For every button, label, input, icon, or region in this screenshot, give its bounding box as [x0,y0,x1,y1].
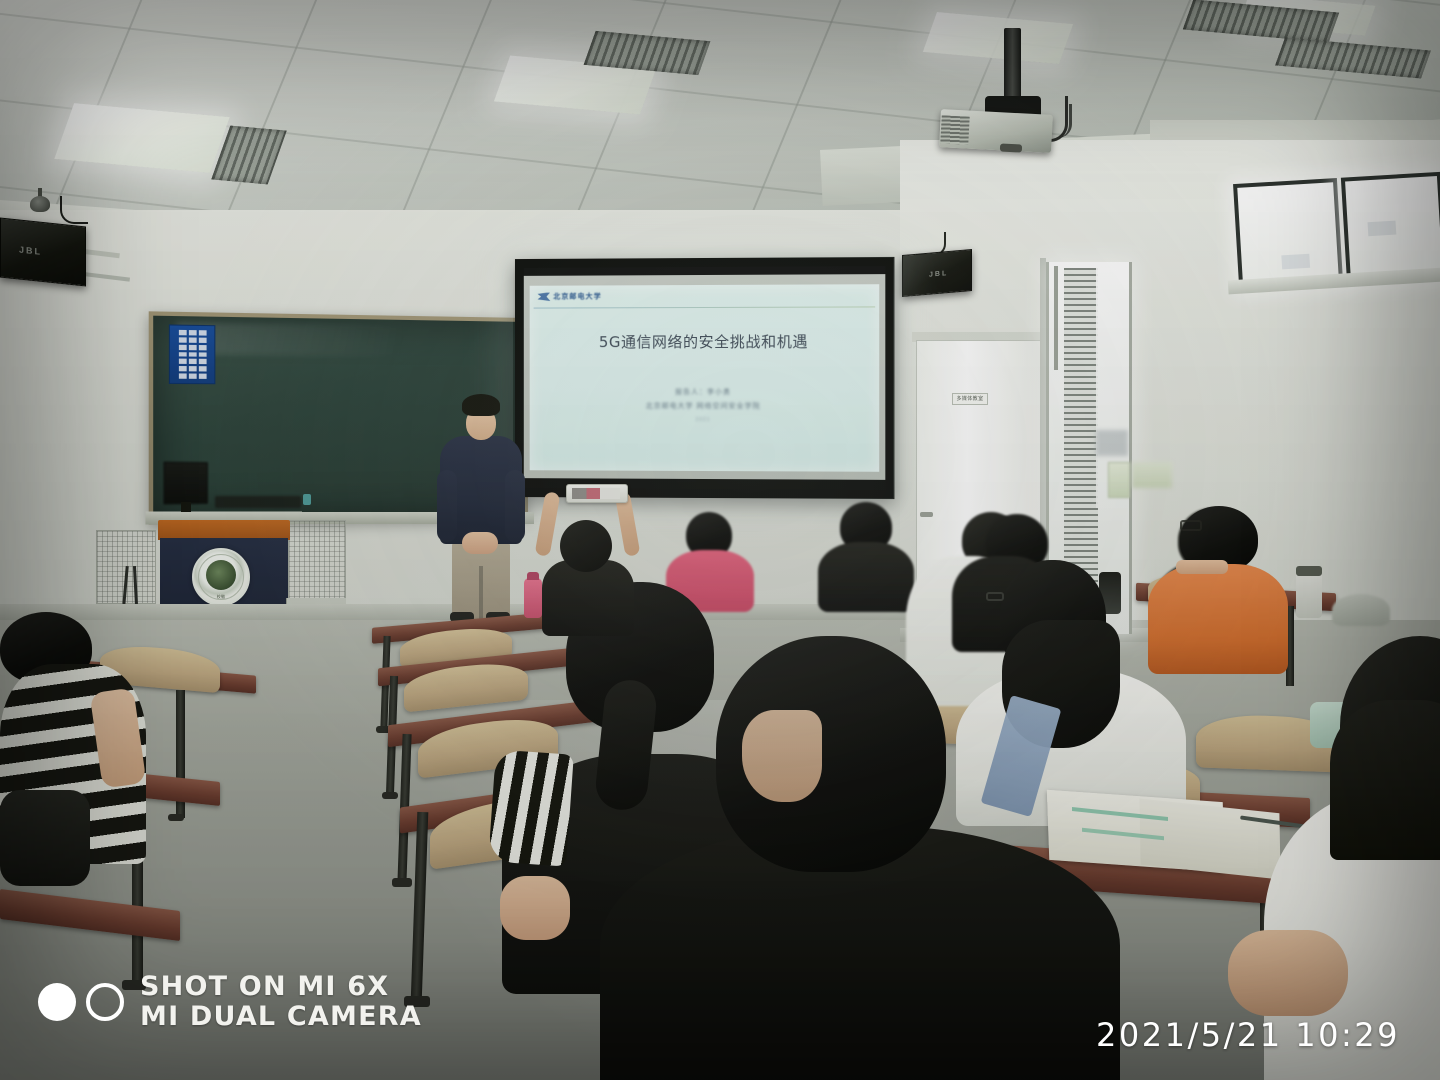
slide-subtitle-date: 2021 [530,417,880,424]
slide-title: 5G通信网络的安全挑战和机遇 [530,331,880,353]
hollow-circle-icon [86,983,124,1021]
projector-lens [1000,143,1022,152]
window-pane [1341,172,1440,284]
screen-top-bar [524,266,886,276]
lectern-monitor [164,462,208,505]
blinds-rod[interactable] [1054,266,1058,370]
sign-text-column [198,330,206,379]
wall-speaker-left: JBL [0,217,86,286]
presenter-arm [505,470,525,542]
outside-building [1096,430,1128,456]
student-neck [1176,560,1228,574]
sign-text-column [178,330,186,379]
slide-university-logo: 北京邮电大学 [538,291,602,301]
university-emblem: 校徽 [192,548,250,606]
thermos-cap [1296,566,1322,576]
filled-circle-icon [38,983,76,1021]
student-ear-cheek [742,710,822,802]
wall-speaker-right: JBL [902,249,972,297]
student-hand [1228,930,1348,1016]
eyeglasses-icon [986,592,1004,601]
photographer-head [560,520,612,572]
presenter-hair [462,394,500,416]
smartphone-screen [572,488,620,499]
window-pane [1233,178,1343,290]
slide-divider [534,306,876,308]
classroom-photo: JBL JBL [0,0,1440,1080]
presenter-hands [462,532,498,554]
desk-foot [382,792,398,799]
window-reflection [1368,221,1397,237]
student-torso [1148,564,1288,674]
door-handle[interactable] [920,512,933,517]
emblem-crest-icon [206,560,236,590]
student-arm [500,876,570,940]
wall-poster [1108,462,1130,498]
speaker-cable [60,196,88,224]
cap-icon [1332,594,1390,626]
projection-screen: 北京邮电大学 5G通信网络的安全挑战和机遇 报告人：李小勇 北京邮电大学 网络空… [515,257,895,499]
security-camera-icon [30,196,50,212]
bottle-cap [527,572,539,580]
projector-mount-pole [1004,28,1021,104]
lectern-equipment [215,496,301,508]
emblem-label: 校徽 [194,594,248,600]
speaker-brand-label: JBL [19,244,42,256]
dual-camera-icon [38,983,124,1021]
podium-worktop [158,520,290,540]
monitor-stand [181,502,191,512]
screen-surface: 北京邮电大学 5G通信网络的安全挑战和机遇 报告人：李小勇 北京邮电大学 网络空… [524,266,886,490]
student-backpack [0,790,90,886]
room-number-label: 多媒体教室 [953,394,987,404]
desk-foot [168,814,184,821]
watermark-text: SHOT ON MI 6X MI DUAL CAMERA [140,972,422,1032]
thermos-flask [1296,570,1322,618]
slide-subtitle-presenter: 报告人：李小勇 [530,387,880,397]
logo-mark-icon [538,292,551,301]
desk-foot [392,878,412,887]
watermark-line-1: SHOT ON MI 6X [140,972,422,1002]
sign-text-column [188,330,196,379]
student-torso [1330,700,1440,860]
presentation-slide: 北京邮电大学 5G通信网络的安全挑战和机遇 报告人：李小勇 北京邮电大学 网络空… [530,284,880,472]
watermark-line-2: MI DUAL CAMERA [140,1002,422,1032]
camera-watermark: SHOT ON MI 6X MI DUAL CAMERA [38,972,422,1032]
teal-cup [303,494,311,505]
pink-water-bottle [524,578,542,618]
wall-poster [1132,462,1172,488]
slide-logo-text: 北京邮电大学 [553,291,602,301]
photo-timestamp: 2021/5/21 10:29 [1096,1016,1400,1054]
window-reflection [1281,254,1310,270]
projector-vent [940,115,969,144]
student-torso [818,542,914,612]
safety-notice-sign [169,324,216,384]
slide-subtitle-affiliation: 北京邮电大学 网络空间安全学院 [530,401,880,411]
podium-speaker-panel-right [288,520,346,600]
speaker-brand-label: JBL [929,270,948,279]
presenter-arm [437,470,457,542]
room-number-sign: 多媒体教室 [952,393,988,405]
student-striped-sleeve [488,749,574,866]
presenter-leg-gap [479,566,483,622]
eyeglasses-icon [1180,520,1202,531]
